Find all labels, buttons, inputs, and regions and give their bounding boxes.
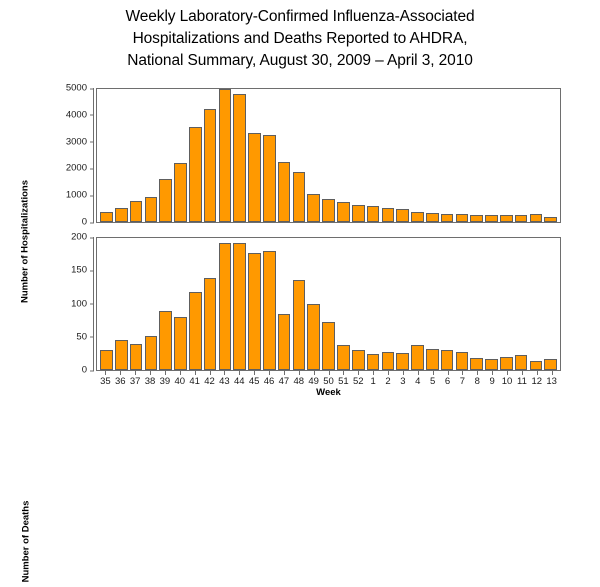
x-axis-tick-label: 41	[188, 371, 201, 387]
bar	[307, 304, 320, 370]
bar	[396, 209, 409, 222]
x-axis-tick-label: 13	[545, 371, 558, 387]
bar	[426, 213, 439, 222]
bar	[485, 359, 498, 370]
title-line-3: National Summary, August 30, 2009 – Apri…	[0, 50, 600, 72]
bar	[456, 214, 469, 222]
y-axis-tick-label: 0	[6, 217, 94, 228]
bar	[130, 344, 143, 370]
bar	[426, 349, 439, 370]
bar	[130, 201, 143, 222]
bar	[145, 197, 158, 222]
x-axis-tick-label: 42	[203, 371, 216, 387]
bar	[115, 340, 128, 370]
x-axis-tick-label: 5	[426, 371, 439, 387]
x-axis-tick-label: 3	[397, 371, 410, 387]
bar	[411, 345, 424, 370]
bar	[456, 352, 469, 370]
bar	[500, 215, 513, 222]
bar	[278, 162, 291, 222]
bar	[337, 345, 350, 370]
plot-area-deaths	[97, 238, 560, 370]
plot-area-hospitalizations	[97, 89, 560, 222]
bar	[219, 243, 232, 370]
bar	[174, 163, 187, 222]
bar	[337, 202, 350, 222]
y-axis-tick-label: 200	[6, 232, 94, 243]
bar	[322, 322, 335, 370]
x-axis-tick-label: 44	[233, 371, 246, 387]
bar	[470, 358, 483, 370]
bar	[352, 350, 365, 370]
bar	[530, 361, 543, 370]
x-axis-tick-label: 49	[307, 371, 320, 387]
x-axis-tick-label: 1	[367, 371, 380, 387]
bar	[189, 292, 202, 370]
bar	[263, 251, 276, 370]
bar	[115, 208, 128, 222]
chart-page: Weekly Laboratory-Confirmed Influenza-As…	[0, 0, 600, 450]
bar	[352, 205, 365, 222]
x-axis-tick-label: 6	[441, 371, 454, 387]
chart-panel-deaths	[96, 237, 561, 371]
bar	[263, 135, 276, 223]
x-axis-tick-label: 11	[516, 371, 529, 387]
y-axis-tick-label: 1000	[6, 190, 94, 201]
x-axis-tick-label: 2	[382, 371, 395, 387]
title-line-2: Hospitalizations and Deaths Reported to …	[0, 28, 600, 50]
bar	[159, 311, 172, 370]
bar-series-hospitalizations	[97, 89, 560, 222]
x-axis-tick-label: 37	[129, 371, 142, 387]
title-line-1: Weekly Laboratory-Confirmed Influenza-As…	[0, 6, 600, 28]
bar	[322, 199, 335, 222]
x-axis-tick-label: 7	[456, 371, 469, 387]
x-axis-tick-label: 12	[530, 371, 543, 387]
y-axis-tick-label: 0	[6, 365, 94, 376]
bar	[515, 355, 528, 370]
bar	[189, 127, 202, 222]
bar	[500, 357, 513, 370]
y-axis-tick-label: 150	[6, 265, 94, 276]
x-axis-weeks: 3536373839404142434445464748495051521234…	[96, 371, 561, 387]
y-axis-deaths: Number of Deaths 050100150200	[6, 237, 94, 371]
x-axis-tick-label: 48	[292, 371, 305, 387]
bar	[100, 212, 113, 222]
bar	[530, 214, 543, 222]
bar	[382, 352, 395, 370]
bar	[159, 179, 172, 222]
bar	[411, 212, 424, 222]
x-axis-tick-label: 39	[159, 371, 172, 387]
x-axis-tick-label: 46	[263, 371, 276, 387]
bar	[248, 133, 261, 222]
bar	[204, 278, 217, 370]
bar	[219, 89, 232, 222]
y-axis-tick-label: 4000	[6, 109, 94, 120]
bar	[485, 215, 498, 222]
x-axis-tick-label: 40	[173, 371, 186, 387]
y-axis-tick-label: 3000	[6, 136, 94, 147]
x-axis-tick-label: 43	[218, 371, 231, 387]
bar	[278, 314, 291, 370]
bar	[145, 336, 158, 370]
bar	[293, 280, 306, 370]
y-axis-label-deaths: Number of Deaths	[21, 497, 32, 587]
bar	[248, 253, 261, 370]
bar	[441, 350, 454, 370]
bar	[174, 317, 187, 370]
x-axis-tick-label: 35	[99, 371, 112, 387]
x-axis-tick-label: 45	[248, 371, 261, 387]
x-axis-tick-label: 8	[471, 371, 484, 387]
x-axis-tick-label: 38	[144, 371, 157, 387]
bar	[204, 109, 217, 222]
x-axis-tick-label: 4	[411, 371, 424, 387]
x-axis-tick-label: 50	[322, 371, 335, 387]
bar	[233, 94, 246, 222]
bar	[544, 359, 557, 370]
bar	[367, 206, 380, 222]
y-axis-tick-label: 50	[6, 331, 94, 342]
bar	[396, 353, 409, 370]
x-axis-tick-label: 9	[486, 371, 499, 387]
x-axis-tick-label: 10	[501, 371, 514, 387]
bar	[441, 214, 454, 223]
bar	[515, 215, 528, 222]
y-axis-tick-label: 5000	[6, 83, 94, 94]
x-axis-tick-label: 52	[352, 371, 365, 387]
bar-series-deaths	[97, 238, 560, 370]
y-axis-tick-label: 2000	[6, 163, 94, 174]
bar	[544, 217, 557, 222]
x-axis-tick-label: 51	[337, 371, 350, 387]
bar	[382, 208, 395, 222]
y-axis-spine-top	[93, 88, 94, 223]
bar	[470, 215, 483, 222]
bar	[293, 172, 306, 222]
bar	[307, 194, 320, 222]
page-title: Weekly Laboratory-Confirmed Influenza-As…	[0, 6, 600, 72]
x-axis-tick-label: 47	[278, 371, 291, 387]
bar	[233, 243, 246, 370]
chart-panel-hospitalizations	[96, 88, 561, 223]
x-axis-tick-label: 36	[114, 371, 127, 387]
bar	[100, 350, 113, 370]
x-axis-label: Week	[96, 387, 561, 398]
y-axis-hospitalizations: Number of Hospitalizations 0100020003000…	[6, 88, 94, 223]
y-axis-tick-label: 100	[6, 298, 94, 309]
bar	[367, 354, 380, 371]
